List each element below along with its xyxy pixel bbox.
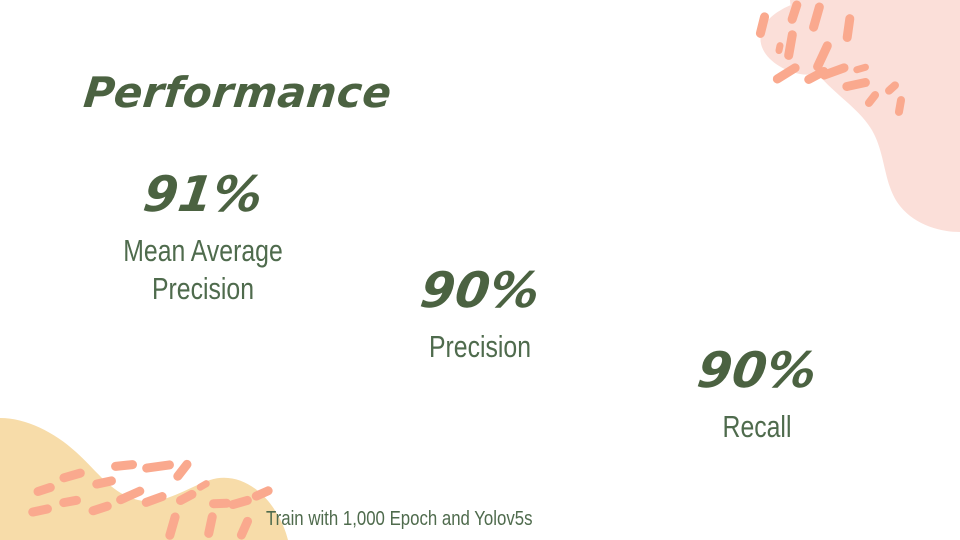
- stat-value-recall: 90%: [694, 346, 820, 395]
- stat-recall: 90% Recall: [657, 346, 857, 446]
- stat-caption-map-line2: Precision: [123, 270, 283, 308]
- coral-dashes-top-right: [755, 0, 906, 117]
- stat-value-precision: 90%: [417, 266, 543, 315]
- page-title: Performance: [81, 68, 394, 117]
- pink-blob-top-right-lobe: [760, 0, 844, 75]
- tan-blob-bottom-left: [0, 418, 288, 540]
- stat-caption-precision: Precision: [400, 328, 560, 366]
- pink-blob-top-right: [790, 0, 960, 232]
- stat-caption-map-line1: Mean Average: [123, 232, 283, 270]
- stat-value-map: 91%: [140, 170, 266, 219]
- stat-mean-average-precision: 91% Mean Average Precision: [103, 170, 303, 309]
- slide-canvas: Performance 91% Mean Average Precision 9…: [0, 0, 960, 540]
- stat-caption-recall: Recall: [677, 408, 837, 446]
- coral-dashes-bottom-left: [27, 458, 274, 540]
- footnote-text: Train with 1,000 Epoch and Yolov5s: [266, 508, 533, 531]
- stat-precision: 90% Precision: [380, 266, 580, 366]
